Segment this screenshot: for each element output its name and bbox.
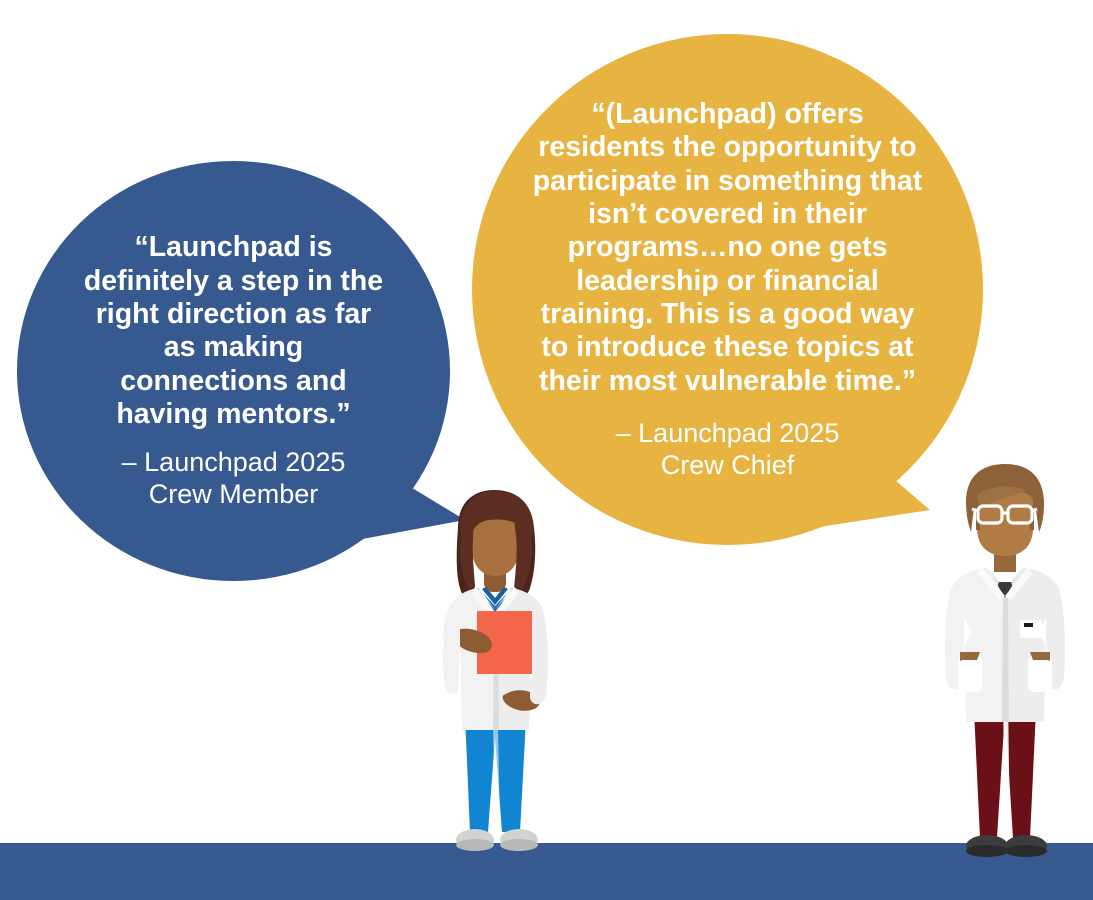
- quote-attribution-crew-member: – Launchpad 2025 Crew Member: [84, 447, 384, 510]
- testimonial-graphic: “Launchpad is definitely a step in the r…: [0, 0, 1093, 900]
- sleeve-right-cuff: [530, 674, 547, 704]
- shoe-sole-right: [1005, 845, 1047, 857]
- testimonial-bubble-crew-member: “Launchpad is definitely a step in the r…: [17, 161, 450, 581]
- quote-attribution-crew-chief: – Launchpad 2025 Crew Chief: [528, 418, 928, 481]
- id-badge-icon: [1024, 623, 1033, 627]
- coat-pocket-right-front: [1028, 660, 1052, 692]
- shoe-sole-left: [456, 839, 494, 851]
- breast-pocket: [1020, 620, 1042, 638]
- male-clinician-illustration: [920, 460, 1090, 872]
- coat-pocket-left-front: [958, 660, 982, 692]
- testimonial-bubble-crew-chief: “(Launchpad) offers residents the opport…: [472, 34, 983, 545]
- female-clinician-illustration: [420, 488, 600, 873]
- attribution-line-1: – Launchpad 2025: [122, 447, 346, 477]
- quote-text-crew-chief: “(Launchpad) offers residents the opport…: [528, 98, 928, 398]
- quote-text-crew-member: “Launchpad is definitely a step in the r…: [84, 231, 384, 431]
- attribution-line-2: Crew Chief: [661, 450, 795, 480]
- shoe-sole-right: [500, 839, 538, 851]
- attribution-line-1: – Launchpad 2025: [616, 418, 840, 448]
- shoe-sole-left: [966, 845, 1008, 857]
- attribution-line-2: Crew Member: [149, 479, 319, 509]
- lab-coat-center-seam: [1002, 598, 1009, 722]
